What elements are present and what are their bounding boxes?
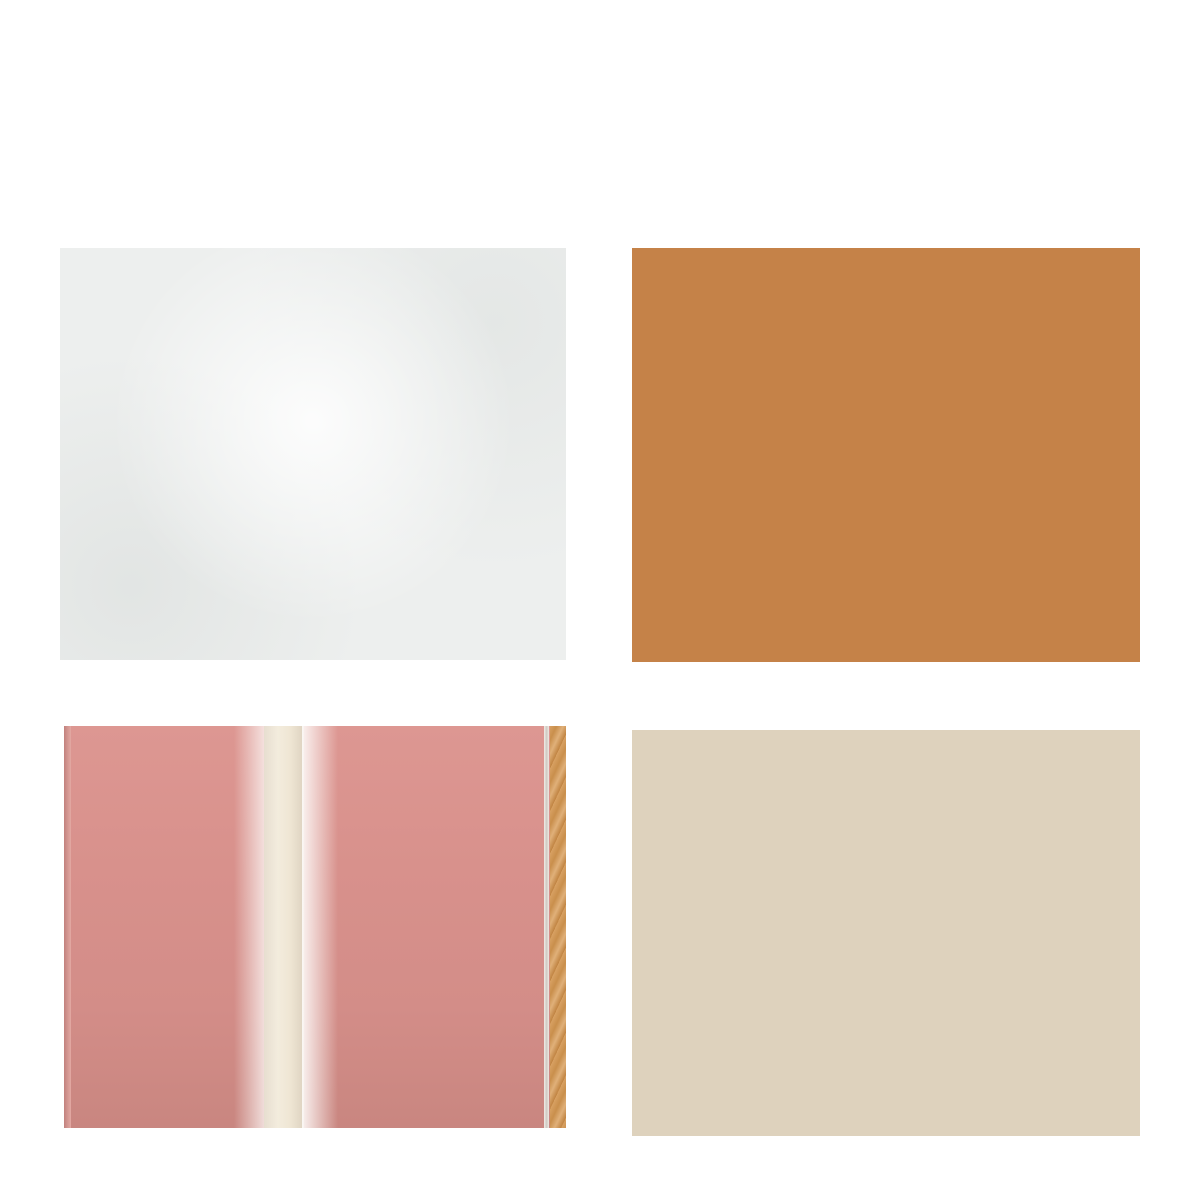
surfaces-infographic <box>0 0 1200 1200</box>
panel-image-lambriu <box>632 248 1140 662</box>
joint-compound-right <box>302 726 338 1128</box>
panel-image-faianta <box>632 730 1140 1136</box>
osb-board-edge <box>550 726 566 1128</box>
joint-tape-strip <box>264 726 304 1128</box>
plasterboard-surface <box>64 726 566 1128</box>
metal-profile-edge <box>544 726 549 1128</box>
ceramic-tile-surface <box>632 730 1140 1136</box>
panel-image-perete-neted <box>60 248 566 660</box>
panel-image-rigips <box>64 726 566 1128</box>
board-edge <box>64 726 71 1128</box>
wood-slat-surface <box>632 248 1140 662</box>
plaster-speckle-texture <box>60 248 566 660</box>
